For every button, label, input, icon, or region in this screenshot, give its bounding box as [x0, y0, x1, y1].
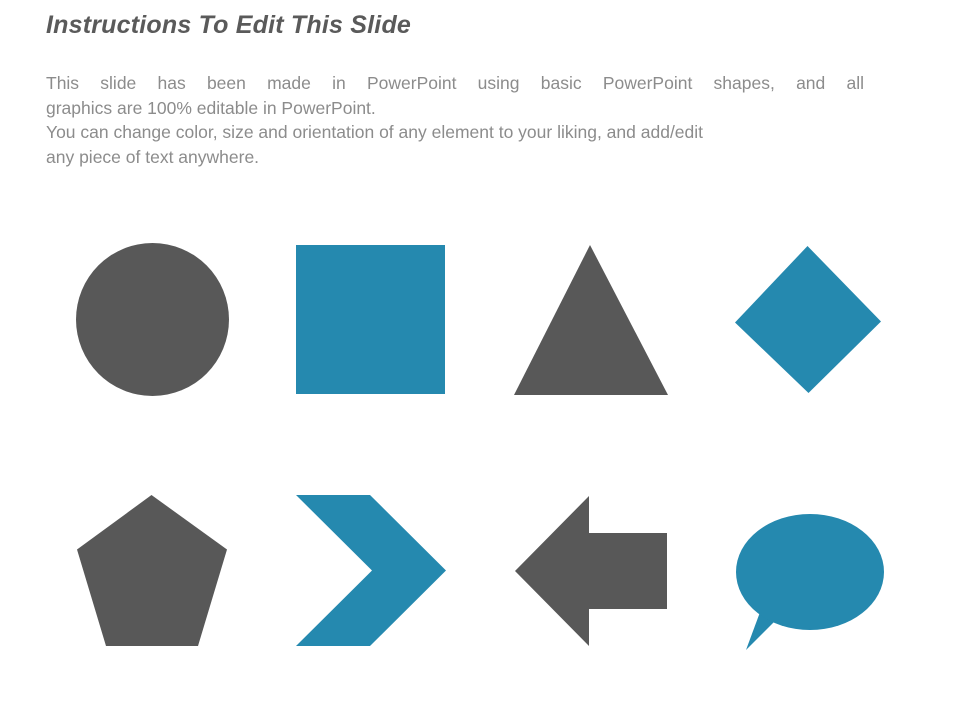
- shape-left-arrow[interactable]: [515, 496, 667, 646]
- shape-square[interactable]: [296, 245, 445, 394]
- diamond-icon: [735, 246, 881, 393]
- arrow-left-icon: [515, 496, 667, 646]
- shape-circle[interactable]: [76, 243, 229, 396]
- shape-triangle[interactable]: [514, 245, 668, 395]
- square-icon: [296, 245, 445, 394]
- circle-icon: [76, 243, 229, 396]
- shape-gallery: [0, 0, 960, 720]
- triangle-icon: [514, 245, 668, 395]
- chevron-right-icon: [296, 495, 446, 646]
- shape-speech-bubble[interactable]: [736, 514, 884, 650]
- shape-pentagon[interactable]: [77, 495, 227, 646]
- pentagon-icon: [77, 495, 227, 646]
- shape-diamond[interactable]: [734, 245, 882, 394]
- speech-bubble-icon: [736, 514, 884, 650]
- shape-chevron[interactable]: [296, 495, 446, 646]
- slide-canvas: Instructions To Edit This Slide This sli…: [0, 0, 960, 720]
